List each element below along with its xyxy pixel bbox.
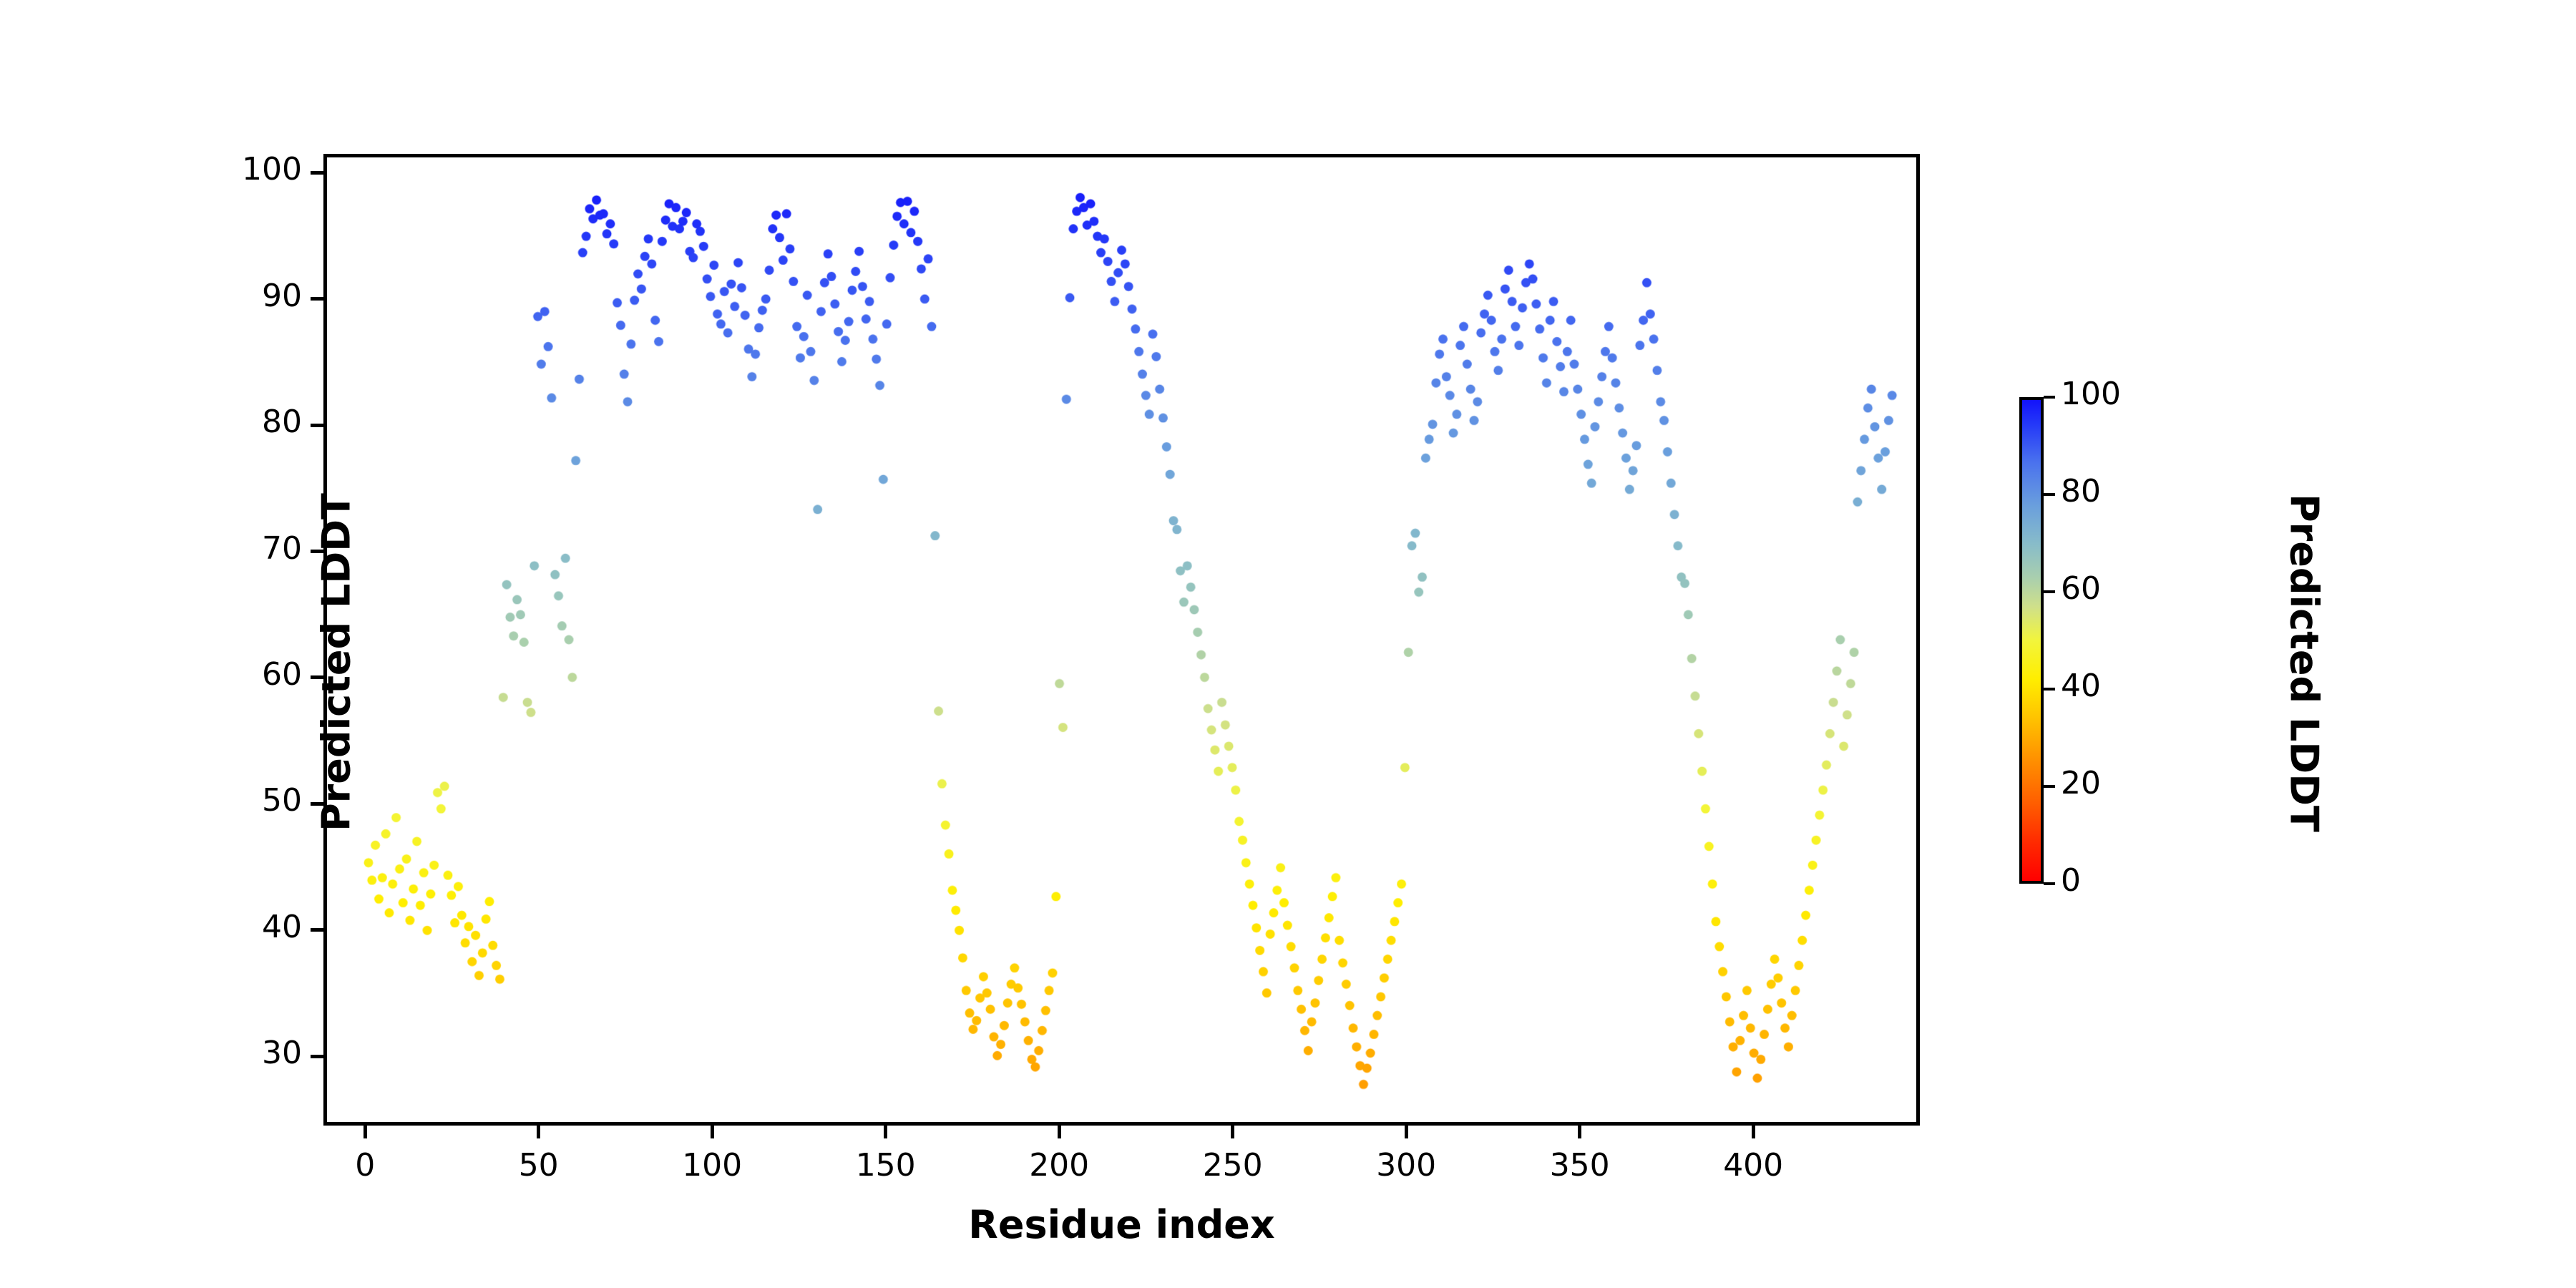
y-tick-mark — [311, 928, 323, 932]
x-tick-label: 200 — [987, 1147, 1131, 1184]
y-tick-mark — [311, 297, 323, 301]
x-tick-label: 400 — [1682, 1147, 1825, 1184]
colorbar-tick-mark — [2044, 590, 2055, 593]
y-tick-label: 50 — [187, 782, 302, 819]
x-tick-label: 350 — [1508, 1147, 1652, 1184]
x-tick-mark — [1752, 1126, 1755, 1138]
colorbar-tick-label: 40 — [2061, 668, 2101, 704]
colorbar-tick-label: 0 — [2061, 862, 2081, 899]
colorbar-tick-label: 60 — [2061, 570, 2101, 607]
x-tick-mark — [1578, 1126, 1581, 1138]
x-tick-mark — [1058, 1126, 1061, 1138]
x-tick-label: 100 — [640, 1147, 784, 1184]
x-tick-label: 300 — [1335, 1147, 1478, 1184]
x-tick-mark — [537, 1126, 540, 1138]
y-tick-mark — [311, 424, 323, 427]
colorbar-label: Predicted LDDT — [2282, 413, 2327, 914]
y-tick-label: 70 — [187, 530, 302, 567]
colorbar-tick-mark — [2044, 396, 2055, 399]
x-tick-mark — [1231, 1126, 1234, 1138]
x-tick-label: 50 — [467, 1147, 610, 1184]
x-tick-mark — [711, 1126, 714, 1138]
colorbar-tick-mark — [2044, 882, 2055, 885]
colorbar-tick-mark — [2044, 493, 2055, 496]
x-tick-label: 150 — [814, 1147, 957, 1184]
x-tick-mark — [364, 1126, 367, 1138]
y-tick-label: 30 — [187, 1035, 302, 1071]
x-tick-mark — [1405, 1126, 1408, 1138]
y-tick-label: 60 — [187, 656, 302, 693]
colorbar-tick-label: 100 — [2061, 376, 2121, 412]
colorbar-tick-label: 80 — [2061, 473, 2101, 509]
colorbar-tick-label: 20 — [2061, 765, 2101, 801]
colorbar-tick-mark — [2044, 785, 2055, 788]
scatter-plot-canvas — [327, 157, 1916, 1122]
figure-root: 30405060708090100 0501001502002503003504… — [0, 0, 2576, 1288]
x-tick-label: 250 — [1161, 1147, 1304, 1184]
colorbar-tick-mark — [2044, 688, 2055, 691]
x-tick-mark — [884, 1126, 887, 1138]
colorbar: 020406080100 — [2019, 397, 2044, 884]
colorbar-gradient — [2019, 397, 2044, 884]
x-axis-label: Residue index — [323, 1202, 1920, 1247]
x-tick-label: 0 — [293, 1147, 436, 1184]
y-tick-label: 90 — [187, 278, 302, 314]
y-tick-label: 100 — [187, 151, 302, 187]
y-tick-mark — [311, 171, 323, 175]
y-tick-label: 80 — [187, 404, 302, 440]
plot-axes — [323, 154, 1920, 1126]
y-axis-label: Predicted LDDT — [314, 448, 359, 877]
y-tick-mark — [311, 1055, 323, 1058]
y-tick-label: 40 — [187, 909, 302, 945]
